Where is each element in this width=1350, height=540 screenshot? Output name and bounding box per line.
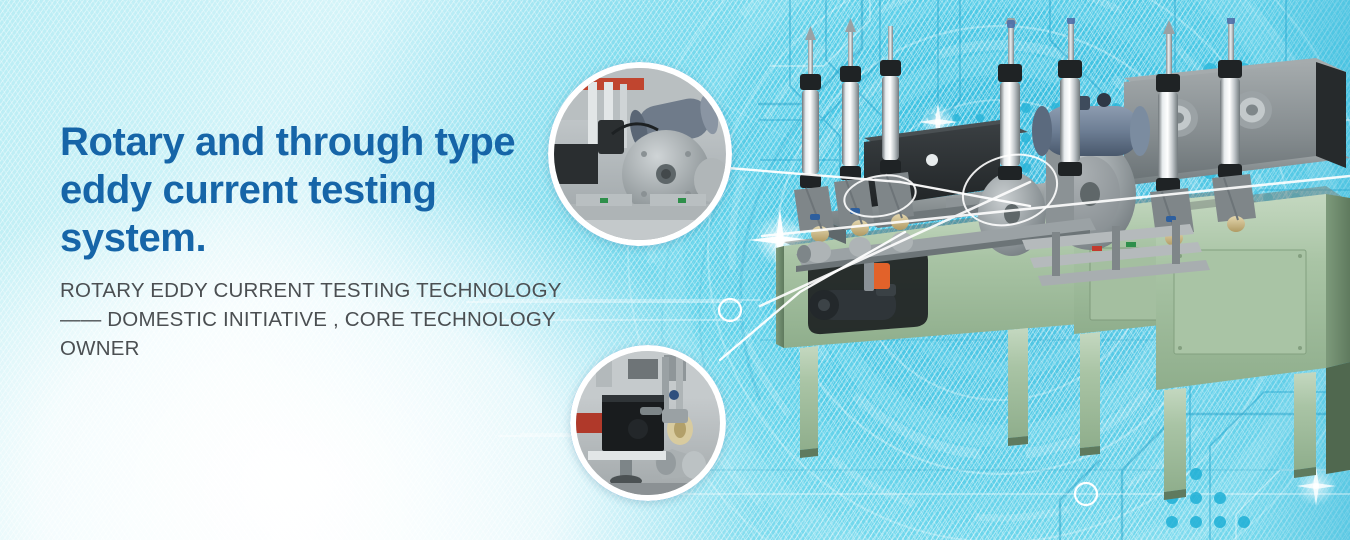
hero-banner: Rotary and through type eddy current tes…: [0, 0, 1350, 540]
hero-copy-block: Rotary and through type eddy current tes…: [60, 118, 580, 363]
pneumatic-cylinder: [834, 18, 874, 226]
subtitle-line-1: ROTARY EDDY CURRENT TESTING TECHNOLOGY: [60, 276, 580, 305]
inset-photo-through-coil[interactable]: [570, 345, 726, 501]
orange-handle: [864, 261, 890, 291]
page-title: Rotary and through type eddy current tes…: [60, 118, 580, 262]
eddy-current-testing-machine: [760, 18, 1350, 523]
pneumatic-cylinder: [794, 26, 834, 232]
pneumatic-cylinder: [874, 26, 914, 220]
inset-photo-image: [554, 68, 726, 240]
inset-photo-image: [576, 351, 720, 495]
pneumatic-cylinder: [998, 18, 1022, 180]
pneumatic-cylinder: [1058, 20, 1082, 176]
subtitle-line-2: —— DOMESTIC INITIATIVE , CORE TECHNOLOGY…: [60, 305, 580, 363]
